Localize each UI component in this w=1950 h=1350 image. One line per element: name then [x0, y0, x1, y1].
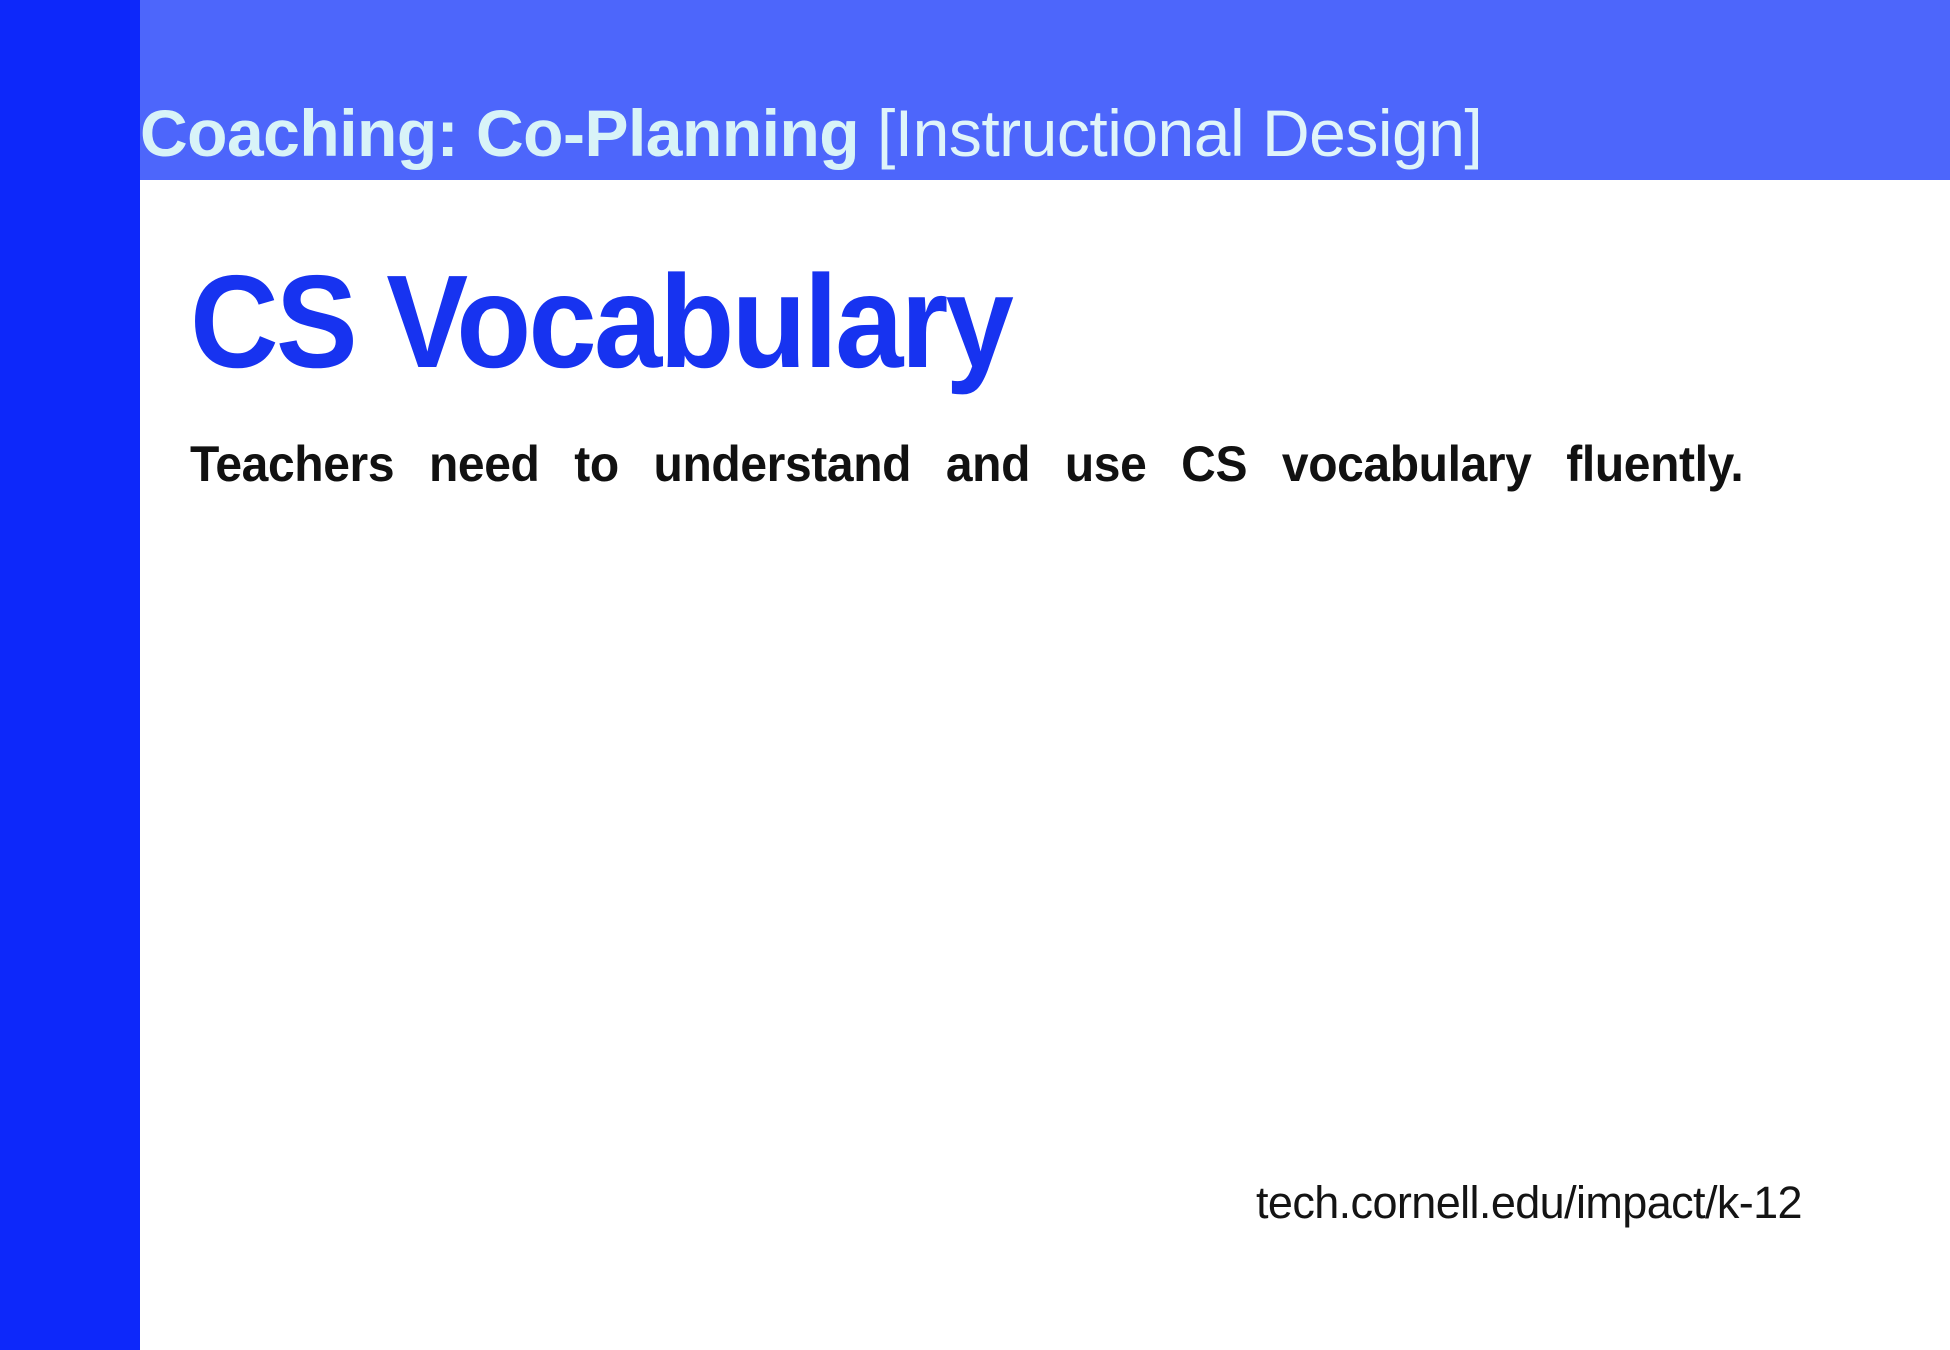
header-bracket-label: [Instructional Design] — [877, 96, 1482, 170]
footer-url: tech.cornell.edu/impact/k-12 — [1256, 1180, 1802, 1225]
header-space — [859, 96, 877, 170]
body-paragraph: Teachers need to understand and use CS v… — [190, 432, 1743, 562]
header-band: Coaching: Co-Planning [Instructional Des… — [140, 0, 1950, 180]
header-title: Coaching: Co-Planning [Instructional Des… — [140, 100, 1808, 166]
left-accent-bar — [0, 0, 140, 1350]
slide-content: CS Vocabulary Teachers need to understan… — [190, 180, 1810, 1350]
page-title: CS Vocabulary — [190, 256, 1011, 388]
header-category-label: Coaching: Co-Planning — [140, 96, 859, 170]
slide-canvas: Coaching: Co-Planning [Instructional Des… — [0, 0, 1950, 1350]
